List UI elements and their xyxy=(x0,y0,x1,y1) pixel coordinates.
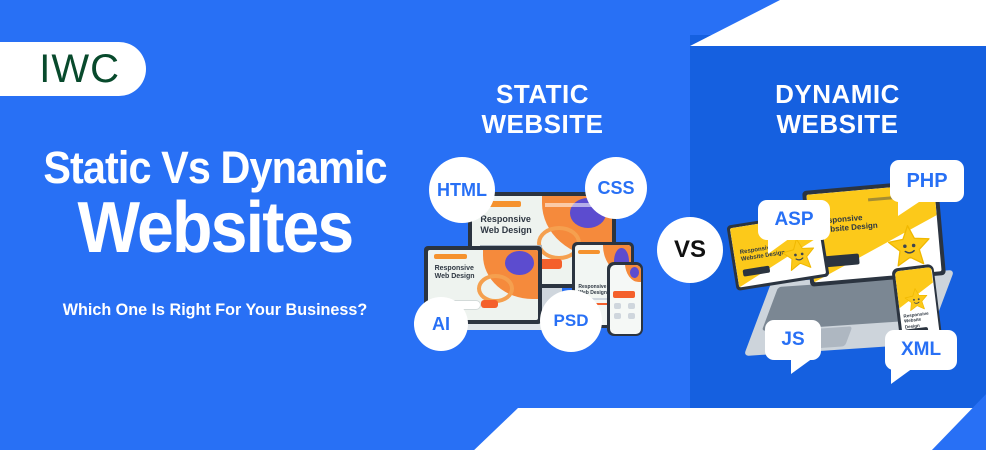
versus-badge: VS xyxy=(657,217,723,283)
screen-heading: Responsive Web Design xyxy=(435,265,497,281)
badge-html-label: HTML xyxy=(437,180,487,201)
decorative-diagonal-bottom xyxy=(470,408,1000,450)
headline-block: Static Vs Dynamic Websites xyxy=(0,145,430,265)
screen-cta-button xyxy=(613,291,635,298)
versus-badge-label: VS xyxy=(674,236,706,264)
screen-card xyxy=(628,303,635,309)
screen-heading: Responsive Website Design xyxy=(903,310,934,329)
screen-heading-line-2: Web Design xyxy=(480,225,558,235)
badge-php[interactable]: PHP xyxy=(890,160,964,202)
section-title-dynamic: DYNAMIC WEBSITE xyxy=(725,80,950,140)
badge-xml-label: XML xyxy=(901,339,941,361)
screen-card xyxy=(614,313,621,319)
screen-heading-line-1: Responsive xyxy=(480,214,558,224)
screen-card xyxy=(628,313,635,319)
logo-text: IWC xyxy=(39,47,120,92)
badge-ai[interactable]: AI xyxy=(414,297,468,351)
badge-xml[interactable]: XML xyxy=(885,330,957,370)
banner: IWC Static Vs Dynamic Websites Which One… xyxy=(0,0,1000,450)
badge-psd-label: PSD xyxy=(554,311,589,331)
badge-asp[interactable]: ASP xyxy=(758,200,830,240)
badge-php-label: PHP xyxy=(906,170,947,193)
screen-logo-bar xyxy=(434,254,467,259)
screen-card xyxy=(614,303,621,309)
logo[interactable]: IWC xyxy=(0,42,146,96)
screen-heading-line-1: Responsive xyxy=(435,265,497,273)
badge-asp-label: ASP xyxy=(774,209,813,231)
purple-blob-shape xyxy=(630,267,639,278)
badge-html[interactable]: HTML xyxy=(429,157,495,223)
section-title-static: STATIC WEBSITE xyxy=(435,80,650,140)
headline-subtitle: Which One Is Right For Your Business? xyxy=(11,300,420,320)
screen-logo-bar xyxy=(578,250,600,254)
badge-css[interactable]: CSS xyxy=(585,157,647,219)
badge-ai-label: AI xyxy=(432,314,450,335)
phone-screen xyxy=(610,265,641,334)
badge-css-label: CSS xyxy=(597,178,634,199)
purple-blob-shape xyxy=(505,251,534,275)
screen-heading-line-2: Web Design xyxy=(435,273,497,281)
star-character-icon xyxy=(903,286,930,313)
badge-psd[interactable]: PSD xyxy=(540,290,602,352)
screen-cta-button xyxy=(481,300,499,308)
screen-heading: Responsive Web Design xyxy=(480,214,558,235)
headline-line-2: Websites xyxy=(17,192,413,265)
star-character-icon xyxy=(886,221,934,269)
decorative-edge-right xyxy=(986,0,1000,450)
badge-js[interactable]: JS xyxy=(765,320,821,360)
screen-cta-button xyxy=(539,259,561,269)
headline-line-1: Static Vs Dynamic xyxy=(17,145,413,190)
phone-mockup xyxy=(607,262,643,336)
badge-js-label: JS xyxy=(781,329,804,351)
